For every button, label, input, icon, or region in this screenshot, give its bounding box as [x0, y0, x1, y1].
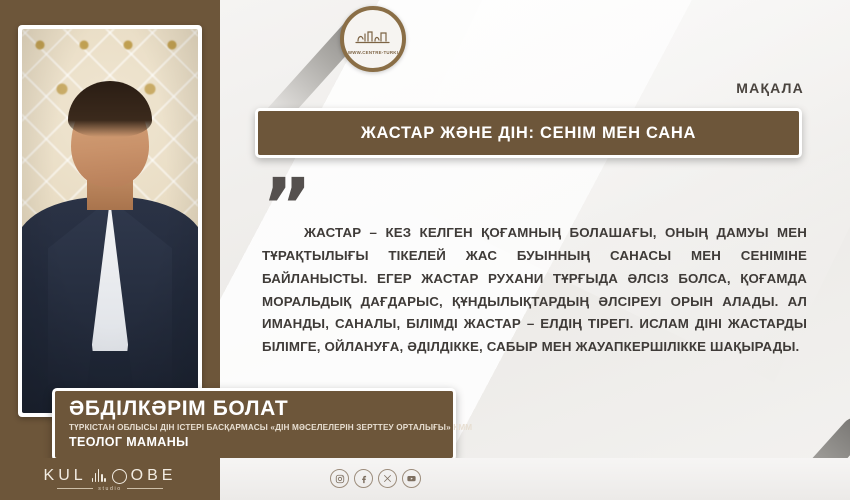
studio-logo-badge-icon — [112, 469, 127, 484]
soundwave-icon — [92, 469, 106, 482]
arabic-calligraphy-emblem-icon — [353, 23, 393, 49]
instagram-icon[interactable] — [330, 469, 349, 488]
footer-brand-panel: KUL OBE studio — [0, 458, 220, 500]
divider-left — [57, 488, 93, 489]
article-body-text: ЖАСТАР – КЕЗ КЕЛГЕН ҚОҒАМНЫҢ БОЛАШАҒЫ, О… — [262, 222, 807, 359]
article-category-label: МАҚАЛА — [736, 80, 804, 96]
studio-logo-subtitle: studio — [98, 486, 121, 492]
portrait-vignette — [22, 29, 198, 413]
portrait-photo — [22, 29, 198, 413]
speaker-name-banner: ӘБДІЛКӘРІМ БОЛАТ ТҮРКІСТАН ОБЛЫСЫ ДІН ІС… — [52, 388, 456, 461]
studio-logo-right: OBE — [131, 467, 177, 485]
studio-logo: KUL OBE — [44, 467, 177, 485]
speaker-organization: ТҮРКІСТАН ОБЛЫСЫ ДІН ІСТЕРІ БАСҚАРМАСЫ «… — [69, 423, 439, 432]
article-title: ЖАСТАР ЖӘНЕ ДІН: СЕНІМ МЕН САНА — [361, 124, 696, 143]
badge-url-text: WWW.CENTRE-TURKI — [348, 50, 398, 55]
youtube-icon[interactable] — [402, 469, 421, 488]
article-poster: WWW.CENTRE-TURKI МАҚАЛА ЖАСТАР ЖӘНЕ ДІН:… — [0, 0, 850, 500]
speaker-role: ТЕОЛОГ МАМАНЫ — [69, 435, 439, 449]
speaker-name: ӘБДІЛКӘРІМ БОЛАТ — [69, 398, 439, 420]
organization-badge: WWW.CENTRE-TURKI — [340, 6, 406, 72]
facebook-icon[interactable] — [354, 469, 373, 488]
article-title-bar: ЖАСТАР ЖӘНЕ ДІН: СЕНІМ МЕН САНА — [255, 108, 802, 158]
divider-right — [127, 488, 163, 489]
studio-logo-subtitle-row: studio — [57, 486, 162, 492]
studio-logo-left: KUL — [44, 467, 87, 485]
portrait-frame — [18, 25, 202, 417]
social-links — [330, 469, 421, 488]
x-twitter-icon[interactable] — [378, 469, 397, 488]
